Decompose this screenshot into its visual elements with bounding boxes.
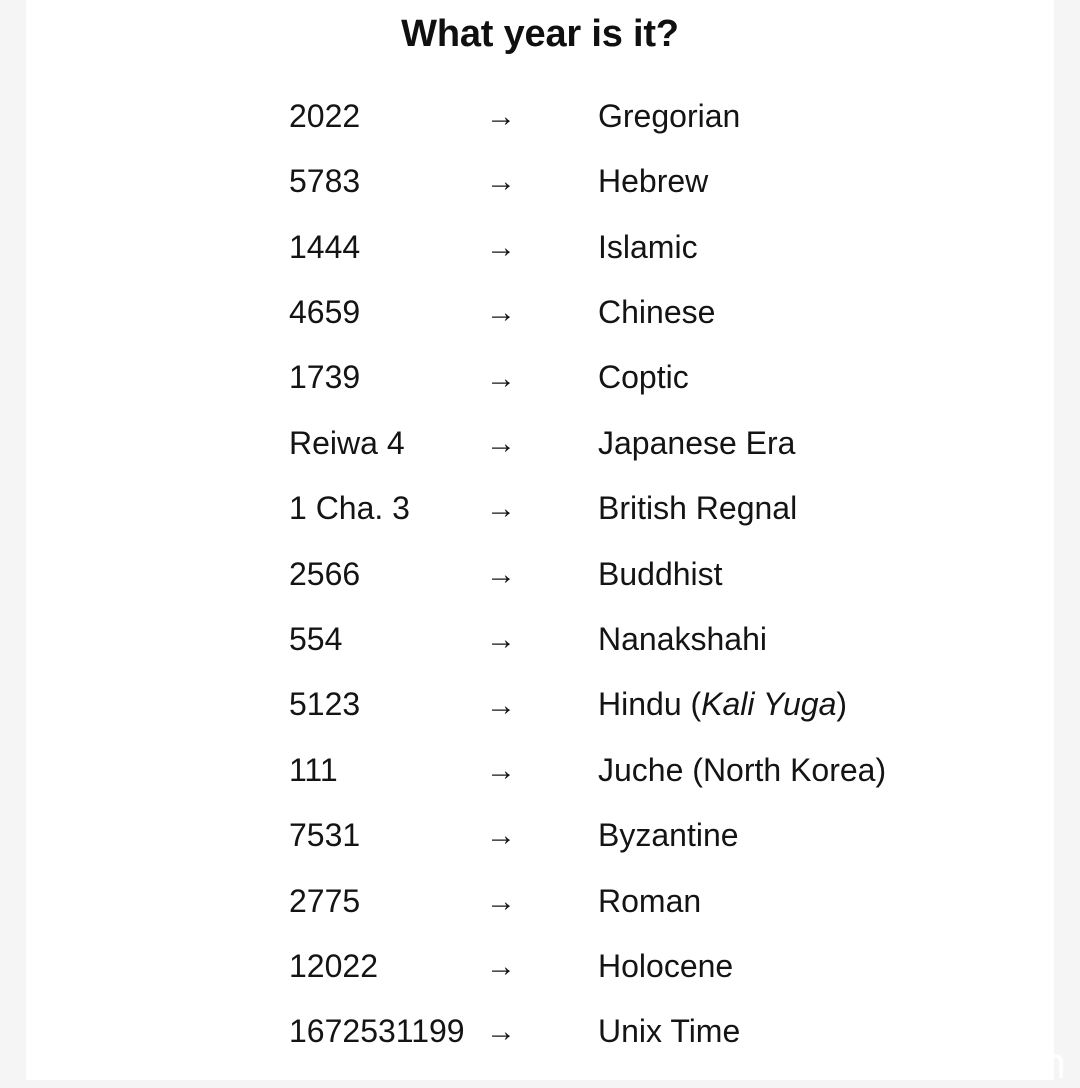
calendar-name: Islamic [589, 215, 1023, 280]
arrow-right-icon: → [480, 803, 589, 868]
year-correspondence-table: 2022→Gregorian5783→Hebrew1444→Islamic465… [263, 84, 1023, 1065]
arrow-right-icon: → [480, 934, 589, 999]
year-value: 12022 [263, 934, 480, 999]
calendar-name: Roman [589, 869, 1023, 934]
calendar-name: Coptic [589, 346, 1023, 411]
arrow-right-icon: → [480, 999, 589, 1064]
table-row: 4659→Chinese [263, 280, 1023, 345]
calendar-name-italic: Kali Yuga [701, 686, 836, 722]
year-value: 1444 [263, 215, 480, 280]
table-row: 5123→Hindu (Kali Yuga) [263, 673, 1023, 738]
year-value: Reiwa 4 [263, 411, 480, 476]
year-value: 7531 [263, 803, 480, 868]
table-row: Reiwa 4→Japanese Era [263, 411, 1023, 476]
year-value: 2775 [263, 869, 480, 934]
table-row: 5783→Hebrew [263, 149, 1023, 214]
calendar-name: Unix Time [589, 999, 1023, 1064]
table-row: 2566→Buddhist [263, 542, 1023, 607]
table-row: 1444→Islamic [263, 215, 1023, 280]
arrow-right-icon: → [480, 84, 589, 149]
calendar-name: Byzantine [589, 803, 1023, 868]
year-value: 2566 [263, 542, 480, 607]
arrow-right-icon: → [480, 869, 589, 934]
calendar-name: Hebrew [589, 149, 1023, 214]
year-value: 1672531199 [263, 999, 480, 1064]
arrow-right-icon: → [480, 542, 589, 607]
table-row: 2775→Roman [263, 869, 1023, 934]
content-panel: What year is it? 2022→Gregorian5783→Hebr… [26, 0, 1054, 1080]
year-value: 4659 [263, 280, 480, 345]
arrow-right-icon: → [480, 607, 589, 672]
year-value: 111 [263, 738, 480, 803]
year-value: 554 [263, 607, 480, 672]
arrow-right-icon: → [480, 149, 589, 214]
calendar-name: Buddhist [589, 542, 1023, 607]
arrow-right-icon: → [480, 476, 589, 541]
table-row: 12022→Holocene [263, 934, 1023, 999]
arrow-right-icon: → [480, 738, 589, 803]
calendar-name: Nanakshahi [589, 607, 1023, 672]
table-row: 1739→Coptic [263, 346, 1023, 411]
year-value: 1739 [263, 346, 480, 411]
arrow-right-icon: → [480, 280, 589, 345]
table-row: 111→Juche (North Korea) [263, 738, 1023, 803]
calendar-name: Chinese [589, 280, 1023, 345]
table-row: 2022→Gregorian [263, 84, 1023, 149]
calendar-name: Gregorian [589, 84, 1023, 149]
calendar-name: Japanese Era [589, 411, 1023, 476]
calendar-name: Hindu (Kali Yuga) [589, 673, 1023, 738]
year-value: 2022 [263, 84, 480, 149]
page-canvas: What year is it? 2022→Gregorian5783→Hebr… [0, 0, 1080, 1080]
calendar-name: British Regnal [589, 476, 1023, 541]
calendar-name: Holocene [589, 934, 1023, 999]
arrow-right-icon: → [480, 673, 589, 738]
arrow-right-icon: → [480, 346, 589, 411]
year-table-body: 2022→Gregorian5783→Hebrew1444→Islamic465… [263, 84, 1023, 1065]
table-row: 1 Cha. 3→British Regnal [263, 476, 1023, 541]
year-value: 1 Cha. 3 [263, 476, 480, 541]
table-row: 7531→Byzantine [263, 803, 1023, 868]
arrow-right-icon: → [480, 411, 589, 476]
table-row: 1672531199→Unix Time [263, 999, 1023, 1064]
calendar-name: Juche (North Korea) [589, 738, 1023, 803]
arrow-right-icon: → [480, 215, 589, 280]
page-title: What year is it? [26, 14, 1054, 56]
table-row: 554→Nanakshahi [263, 607, 1023, 672]
year-value: 5123 [263, 673, 480, 738]
year-value: 5783 [263, 149, 480, 214]
